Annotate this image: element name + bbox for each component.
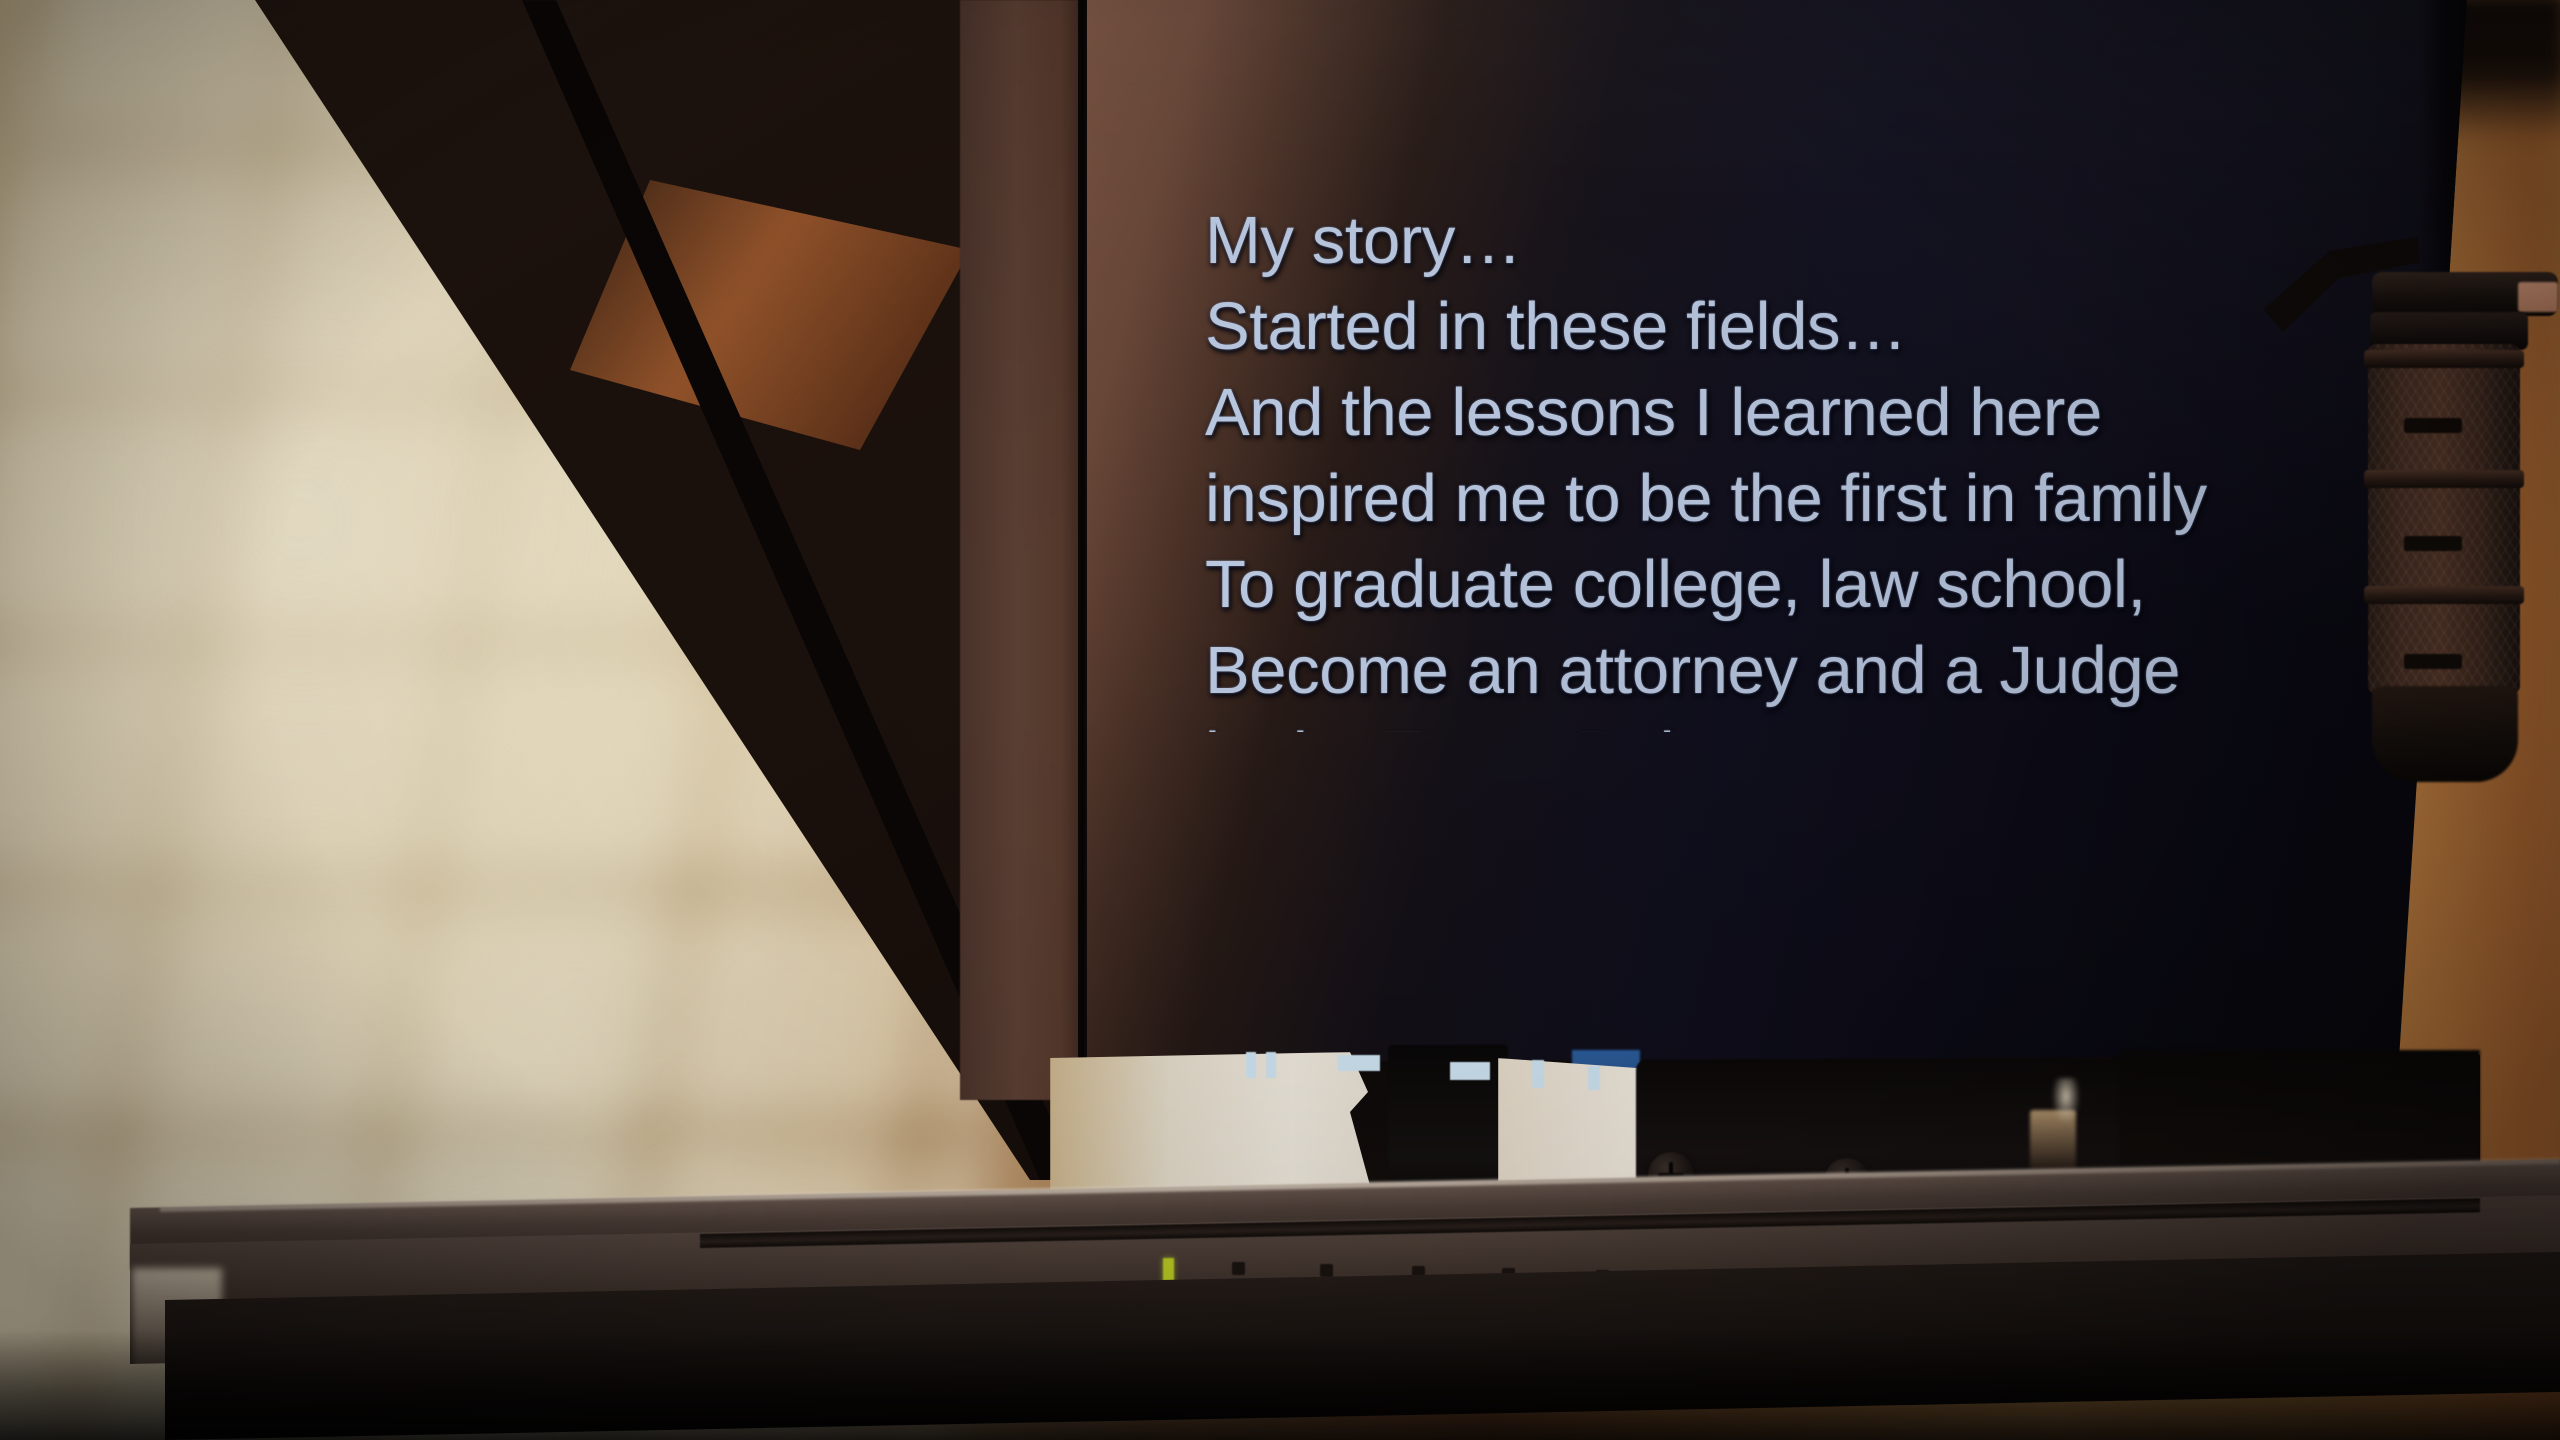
microphone-vent-slot <box>2404 418 2462 433</box>
mount-highlight-chip <box>1450 1062 1490 1080</box>
microphone-vent-slot <box>2404 536 2462 551</box>
prompter-line-3: And the lessons I learned here <box>1205 370 2467 456</box>
teleprompter-frame-edge <box>1078 0 1087 1090</box>
microphone-vent-slot <box>2404 654 2462 669</box>
microphone-band <box>2364 586 2524 604</box>
prompter-line-5: To graduate college, law school, <box>1205 542 2467 628</box>
teleprompter-side-panel <box>960 0 1086 1100</box>
mount-highlight-chip <box>1588 1066 1600 1090</box>
teleprompter-screen[interactable]: My story… Started in these fields… And t… <box>1087 0 2467 1090</box>
mount-highlight-chip <box>1532 1060 1544 1088</box>
screenshot-scene: My story… Started in these fields… And t… <box>0 0 2560 1440</box>
prompter-line-6: Become an attorney and a Judge <box>1205 628 2467 714</box>
microphone-band <box>2364 470 2524 488</box>
mount-highlight-chip <box>1266 1052 1276 1078</box>
lower-shadow <box>0 1330 2560 1440</box>
mount-highlight-chip <box>1246 1052 1256 1078</box>
mount-specular-highlight <box>2052 1078 2080 1124</box>
prompter-line-1: My story… <box>1205 198 2467 284</box>
microphone-cap-tip <box>2518 282 2558 312</box>
microphone-band <box>2364 350 2524 368</box>
microphone-bottom-cap <box>2372 686 2518 782</box>
microphone-grip-body <box>2368 344 2520 694</box>
mount-highlight-chip <box>1338 1055 1380 1071</box>
prompter-script: My story… Started in these fields… And t… <box>1205 198 2467 732</box>
prompter-line-7-clipped: in the Texas Delta <box>1205 714 2467 732</box>
lectern-pin <box>1232 1262 1245 1275</box>
prompter-line-4: inspired me to be the first in family <box>1205 456 2467 542</box>
lectern-pin <box>1320 1264 1333 1277</box>
